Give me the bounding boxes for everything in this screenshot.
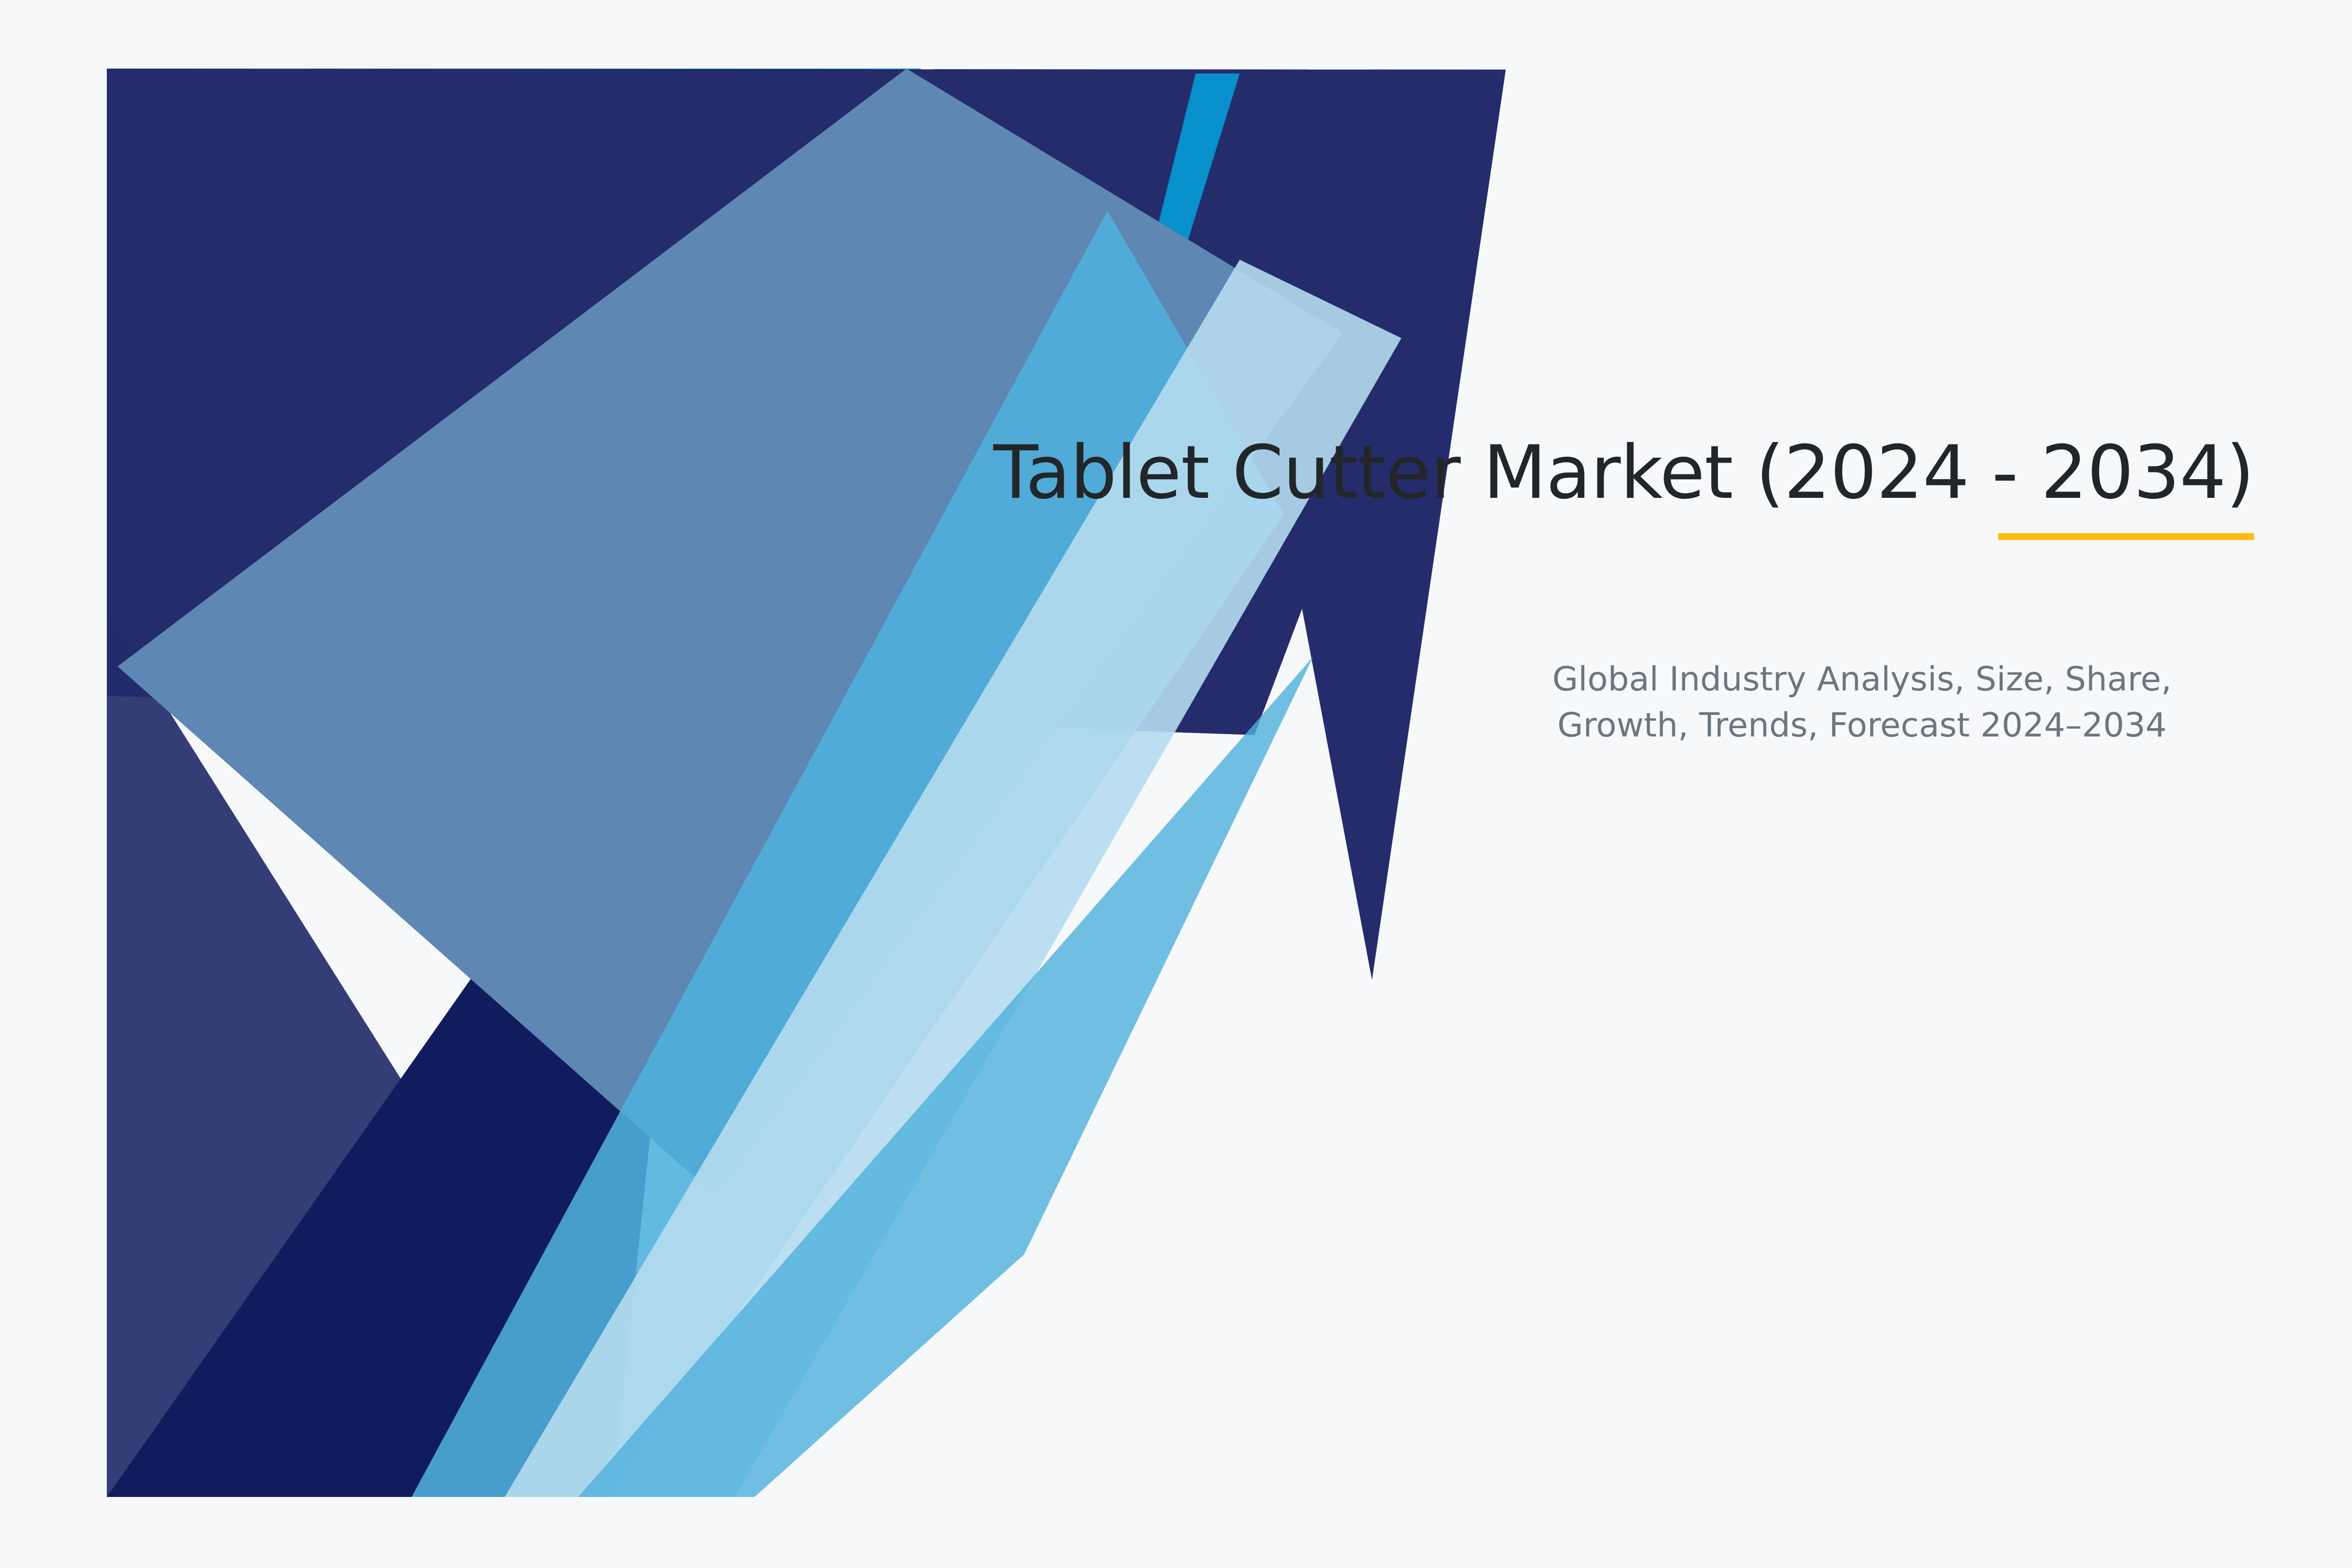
subtitle-line-2: Growth, Trends, Forecast 2024–2034 (1470, 703, 2254, 749)
page-subtitle: Global Industry Analysis, Size, Share, G… (1470, 657, 2254, 749)
cover-text-layer: Tablet Cutter Market (2024 - 2034) Globa… (0, 0, 2352, 1568)
subtitle-line-1: Global Industry Analysis, Size, Share, (1470, 657, 2254, 703)
accent-rule (1998, 533, 2254, 540)
page-title: Tablet Cutter Market (2024 - 2034) (686, 432, 2254, 514)
report-cover-slide: Tablet Cutter Market (2024 - 2034) Globa… (0, 0, 2352, 1568)
